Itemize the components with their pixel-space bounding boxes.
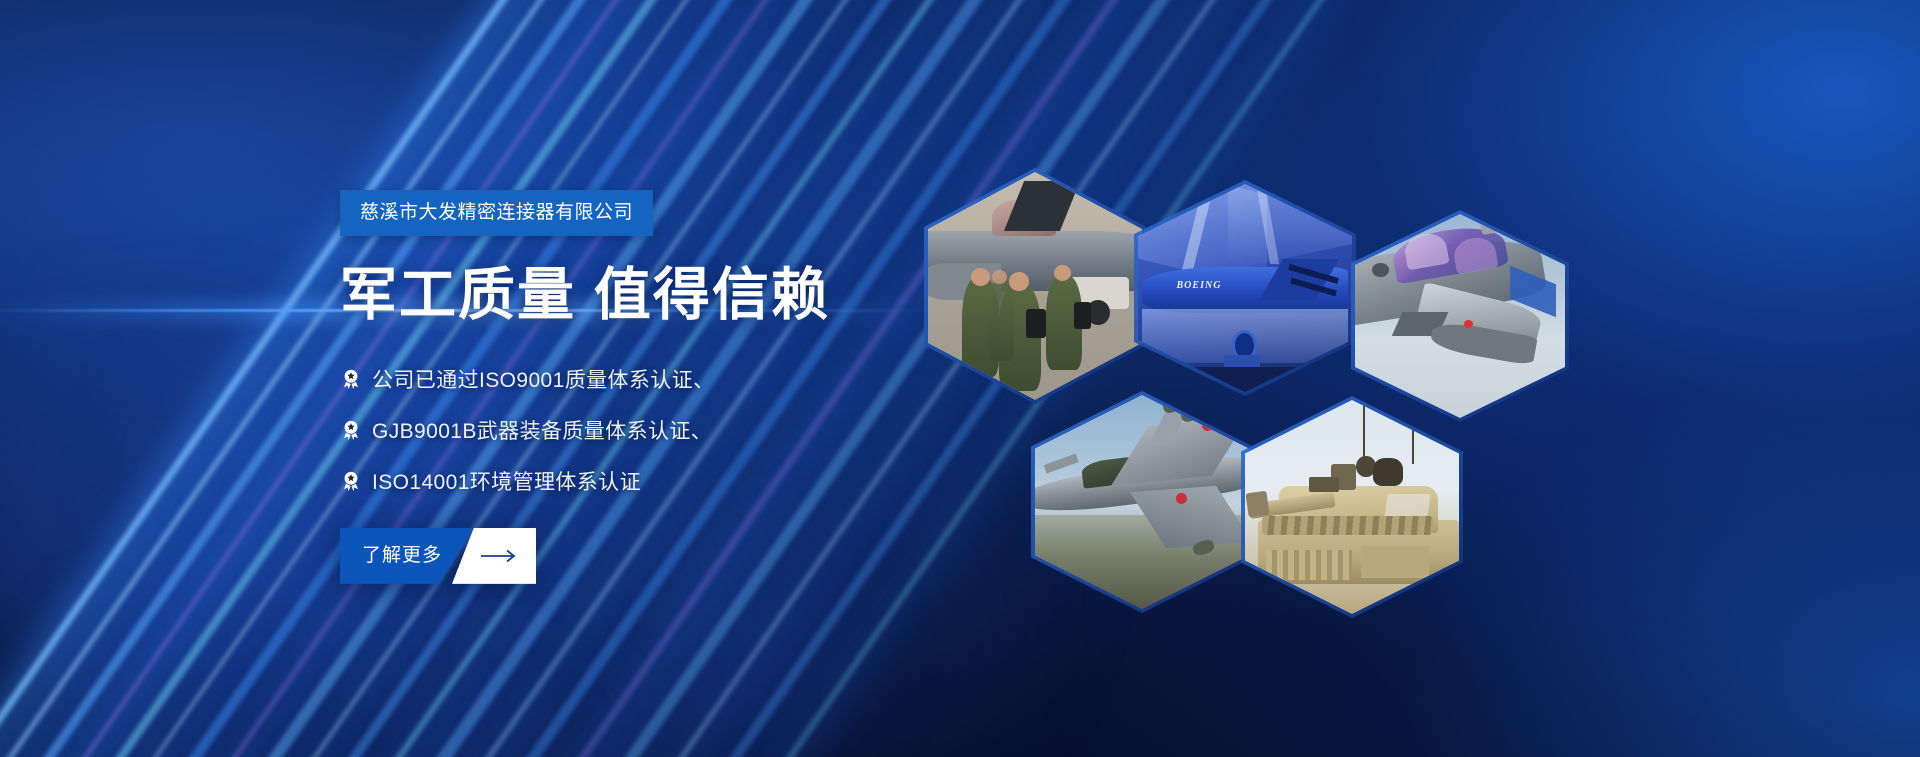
- boeing-hangar-photo: BOEING: [1138, 184, 1352, 392]
- hexagon-tile-battle-tank[interactable]: [1245, 400, 1459, 614]
- medal-icon: [340, 470, 362, 492]
- hero-content: 慈溪市大发精密连接器有限公司 军工质量 值得信赖 公司已通过ISO9001质量体…: [340, 190, 900, 584]
- certification-list: 公司已通过ISO9001质量体系认证、 GJB9001B武器装备质量体系认证、: [340, 364, 900, 496]
- learn-more-button[interactable]: 了解更多: [340, 528, 536, 584]
- company-name-badge: 慈溪市大发精密连接器有限公司: [340, 190, 653, 236]
- jet-cockpit-photo: [1355, 214, 1565, 418]
- list-item: GJB9001B武器装备质量体系认证、: [340, 415, 900, 445]
- hexagon-gallery: BOEING: [900, 140, 1620, 660]
- hero-banner: BOEING: [0, 0, 1920, 757]
- fighter-pilots-photo: [928, 172, 1142, 400]
- boeing-brand-text: BOEING: [1177, 280, 1222, 291]
- battle-tank-photo: [1245, 400, 1459, 614]
- list-item-label: ISO14001环境管理体系认证: [372, 466, 641, 496]
- medal-icon: [340, 368, 362, 390]
- list-item-label: GJB9001B武器装备质量体系认证、: [372, 415, 712, 445]
- fighter-jet-photo: [1035, 395, 1249, 609]
- list-item-label: 公司已通过ISO9001质量体系认证、: [372, 364, 715, 394]
- list-item: 公司已通过ISO9001质量体系认证、: [340, 364, 900, 394]
- arrow-right-icon: [480, 528, 520, 584]
- hero-headline: 军工质量 值得信赖: [340, 266, 900, 326]
- cta-label: 了解更多: [362, 528, 442, 584]
- medal-icon: [340, 419, 362, 441]
- hexagon-tile-jet-cockpit[interactable]: [1355, 214, 1565, 418]
- hexagon-tile-fighter-jet[interactable]: [1035, 395, 1249, 609]
- hexagon-tile-boeing-hangar[interactable]: BOEING: [1138, 184, 1352, 392]
- hexagon-tile-fighter-pilots[interactable]: [928, 172, 1142, 400]
- list-item: ISO14001环境管理体系认证: [340, 466, 900, 496]
